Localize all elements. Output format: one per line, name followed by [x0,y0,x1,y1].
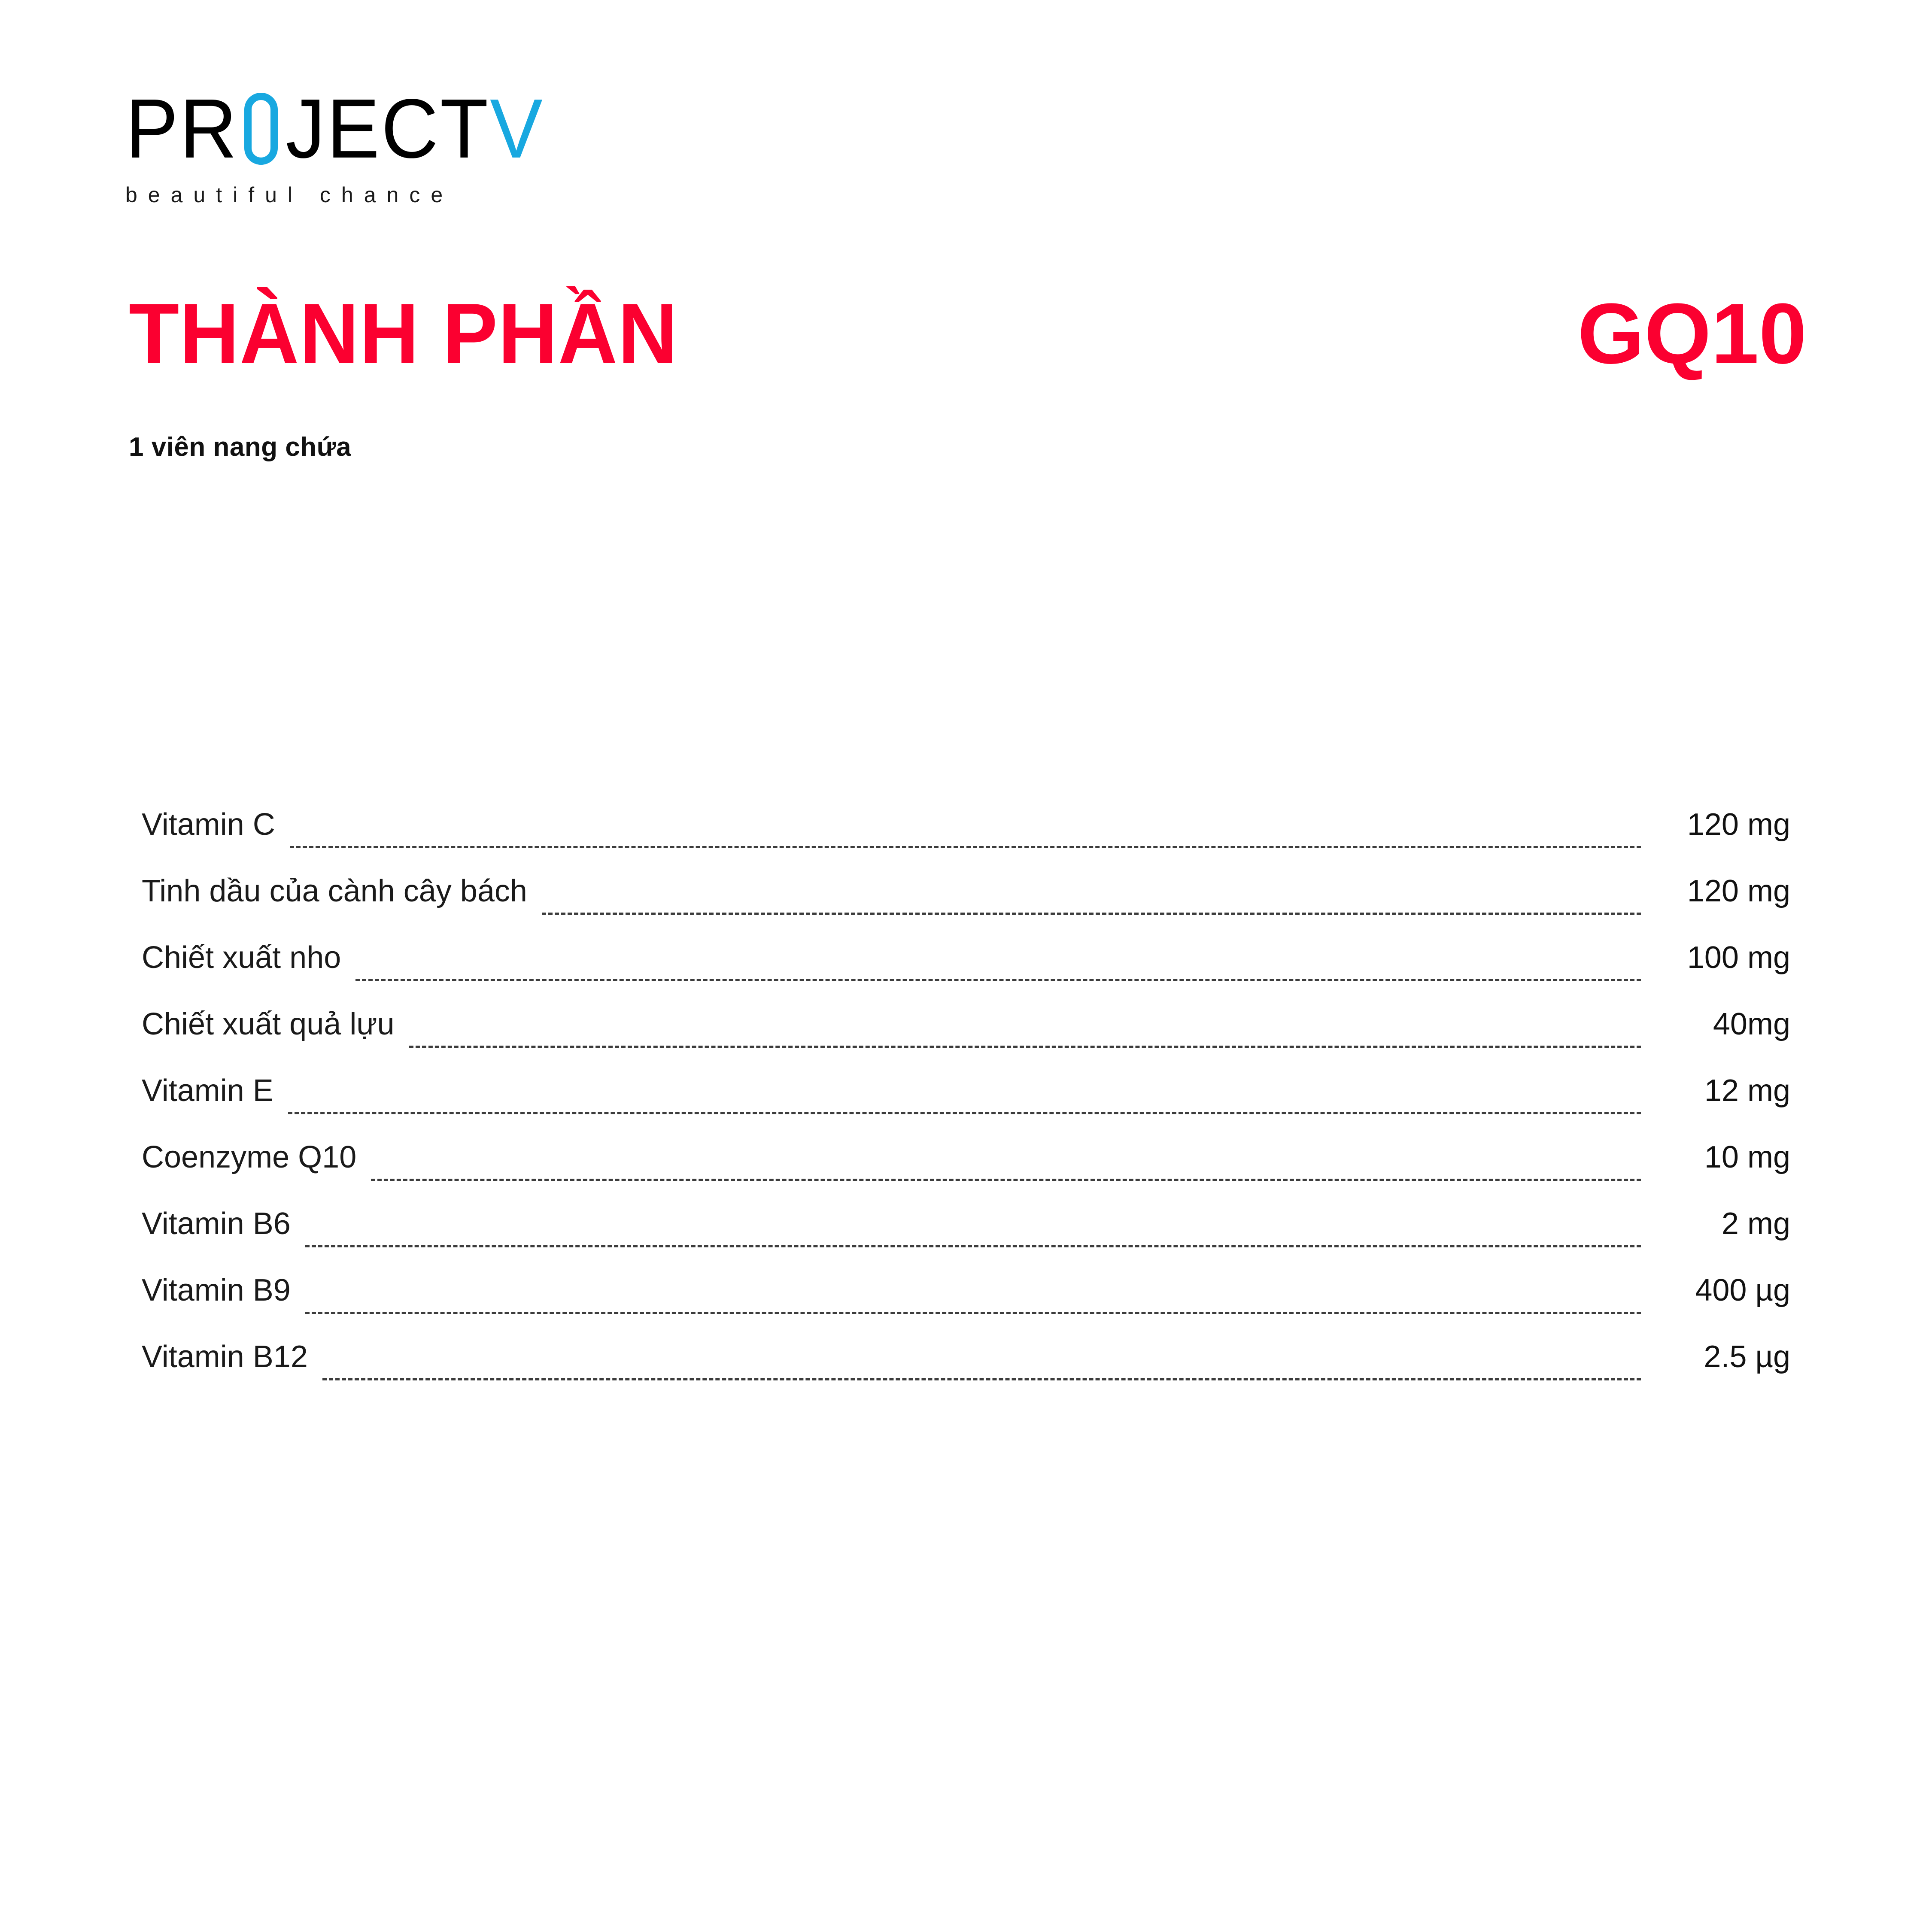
ingredient-list: Vitamin C 120 mg Tinh dầu của cành cây b… [142,807,1790,1406]
logo-zero-capsule-icon [244,93,278,165]
serving-subtitle: 1 viên nang chứa [129,432,351,462]
ingredient-row: Coenzyme Q10 10 mg [142,1140,1790,1206]
ingredient-amount: 2.5 µg [1641,1339,1790,1374]
ingredient-row: Vitamin B12 2.5 µg [142,1339,1790,1406]
logo-text-ject: JECT [286,82,490,176]
ingredient-row: Tinh dầu của cành cây bách 120 mg [142,873,1790,940]
leader-dots [409,1046,1641,1046]
ingredient-name: Chiết xuất quả lựu [142,1007,409,1042]
ingredient-row: Vitamin C 120 mg [142,807,1790,873]
ingredient-row: Chiết xuất quả lựu 40mg [142,1007,1790,1073]
ingredient-amount: 2 mg [1641,1206,1790,1241]
ingredient-row: Vitamin B9 400 µg [142,1273,1790,1339]
page-title: THÀNH PHẦN [129,288,678,379]
ingredient-amount: 40mg [1641,1007,1790,1042]
brand-logo: PR JECTV beautiful chance [125,84,598,207]
ingredient-name: Vitamin B12 [142,1339,322,1374]
ingredient-amount: 100 mg [1641,940,1790,975]
leader-dots [371,1179,1641,1179]
ingredient-name: Coenzyme Q10 [142,1140,371,1175]
ingredient-name: Vitamin B9 [142,1273,305,1308]
leader-dots [355,979,1641,980]
ingredient-amount: 120 mg [1641,807,1790,842]
logo-tagline: beautiful chance [125,182,598,207]
logo-wordmark: PR JECTV [125,84,598,174]
ingredient-amount: 12 mg [1641,1073,1790,1108]
product-code: GQ10 [1577,288,1807,379]
leader-dots [288,1112,1641,1113]
logo-wordmark-text: PR JECTV [125,84,544,174]
leader-dots [305,1312,1641,1312]
ingredient-row: Vitamin E 12 mg [142,1073,1790,1140]
logo-text-v: V [490,82,544,176]
ingredient-row: Chiết xuất nho 100 mg [142,940,1790,1007]
leader-dots [305,1245,1641,1246]
leader-dots [290,846,1641,846]
leader-dots [542,913,1641,913]
ingredient-amount: 10 mg [1641,1140,1790,1175]
ingredient-amount: 400 µg [1641,1273,1790,1308]
ingredient-name: Chiết xuất nho [142,940,355,975]
ingredient-name: Tinh dầu của cành cây bách [142,873,542,909]
ingredient-amount: 120 mg [1641,873,1790,909]
ingredient-name: Vitamin E [142,1073,288,1108]
ingredient-row: Vitamin B6 2 mg [142,1206,1790,1273]
ingredient-name: Vitamin C [142,807,290,842]
heading-row: THÀNH PHẦN GQ10 [0,288,1932,387]
ingredient-name: Vitamin B6 [142,1206,305,1241]
logo-text-pr: PR [125,82,238,176]
supplement-facts-page: PR JECTV beautiful chance THÀNH PHẦN GQ1… [0,0,1932,1932]
leader-dots [322,1378,1641,1379]
